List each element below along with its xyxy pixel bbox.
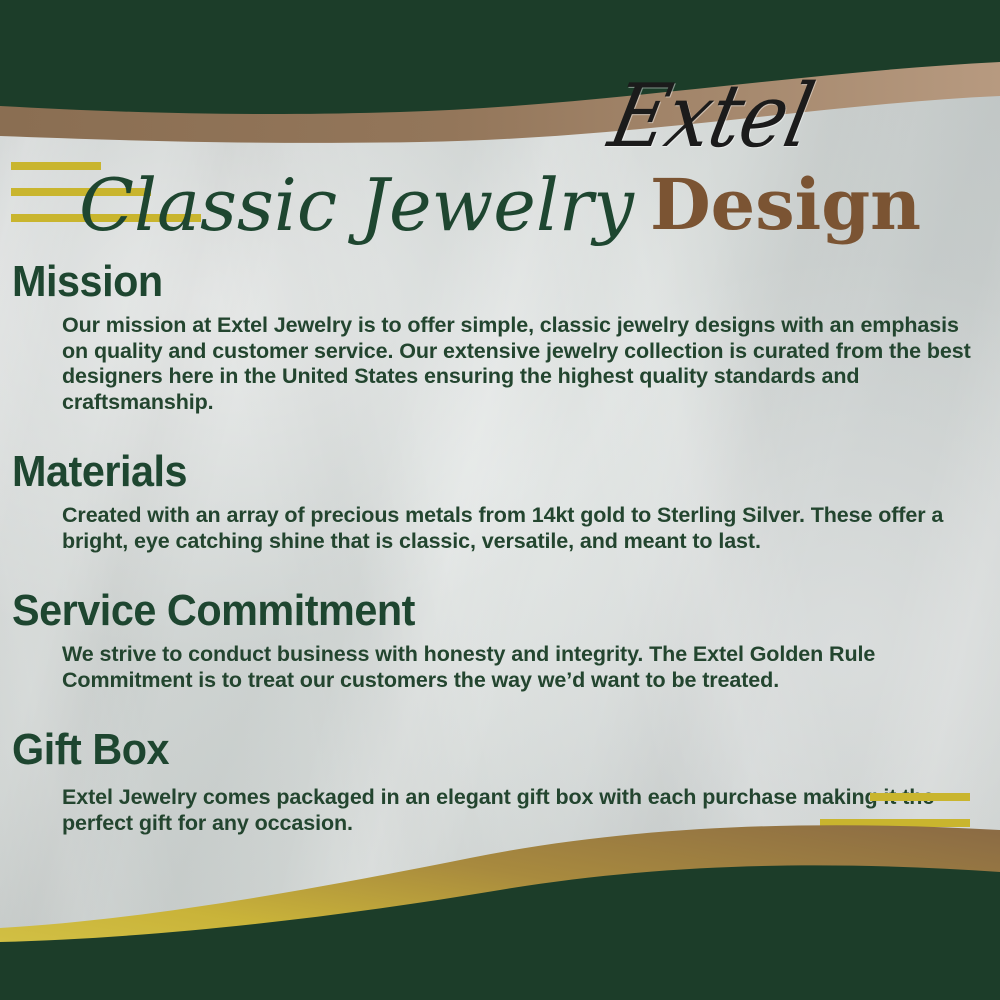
extel-logo-script: Extel — [601, 67, 962, 168]
section-heading-materials: Materials — [12, 445, 941, 499]
title-classic-jewelry: Classic Jewelry — [79, 163, 634, 247]
section-body-materials: Created with an array of precious metals… — [62, 503, 980, 554]
content-sections: Mission Our mission at Extel Jewelry is … — [0, 255, 1000, 840]
section-heading-mission: Mission — [12, 255, 941, 309]
section-body-mission: Our mission at Extel Jewelry is to offer… — [62, 313, 980, 415]
section-service-commitment: Service Commitment We strive to conduct … — [0, 584, 1000, 693]
title-design: Design — [650, 163, 921, 246]
section-materials: Materials Created with an array of preci… — [0, 445, 1000, 554]
section-heading-service-commitment: Service Commitment — [12, 584, 941, 638]
poster-title: Classic JewelryDesign — [0, 155, 1000, 255]
section-mission: Mission Our mission at Extel Jewelry is … — [0, 255, 1000, 415]
section-body-service-commitment: We strive to conduct business with hones… — [62, 642, 980, 693]
poster-canvas: Extel Classic JewelryDesign Mission Our … — [0, 0, 1000, 1000]
footer-wave-decoration — [0, 800, 1000, 1000]
section-heading-gift-box: Gift Box — [12, 723, 941, 777]
